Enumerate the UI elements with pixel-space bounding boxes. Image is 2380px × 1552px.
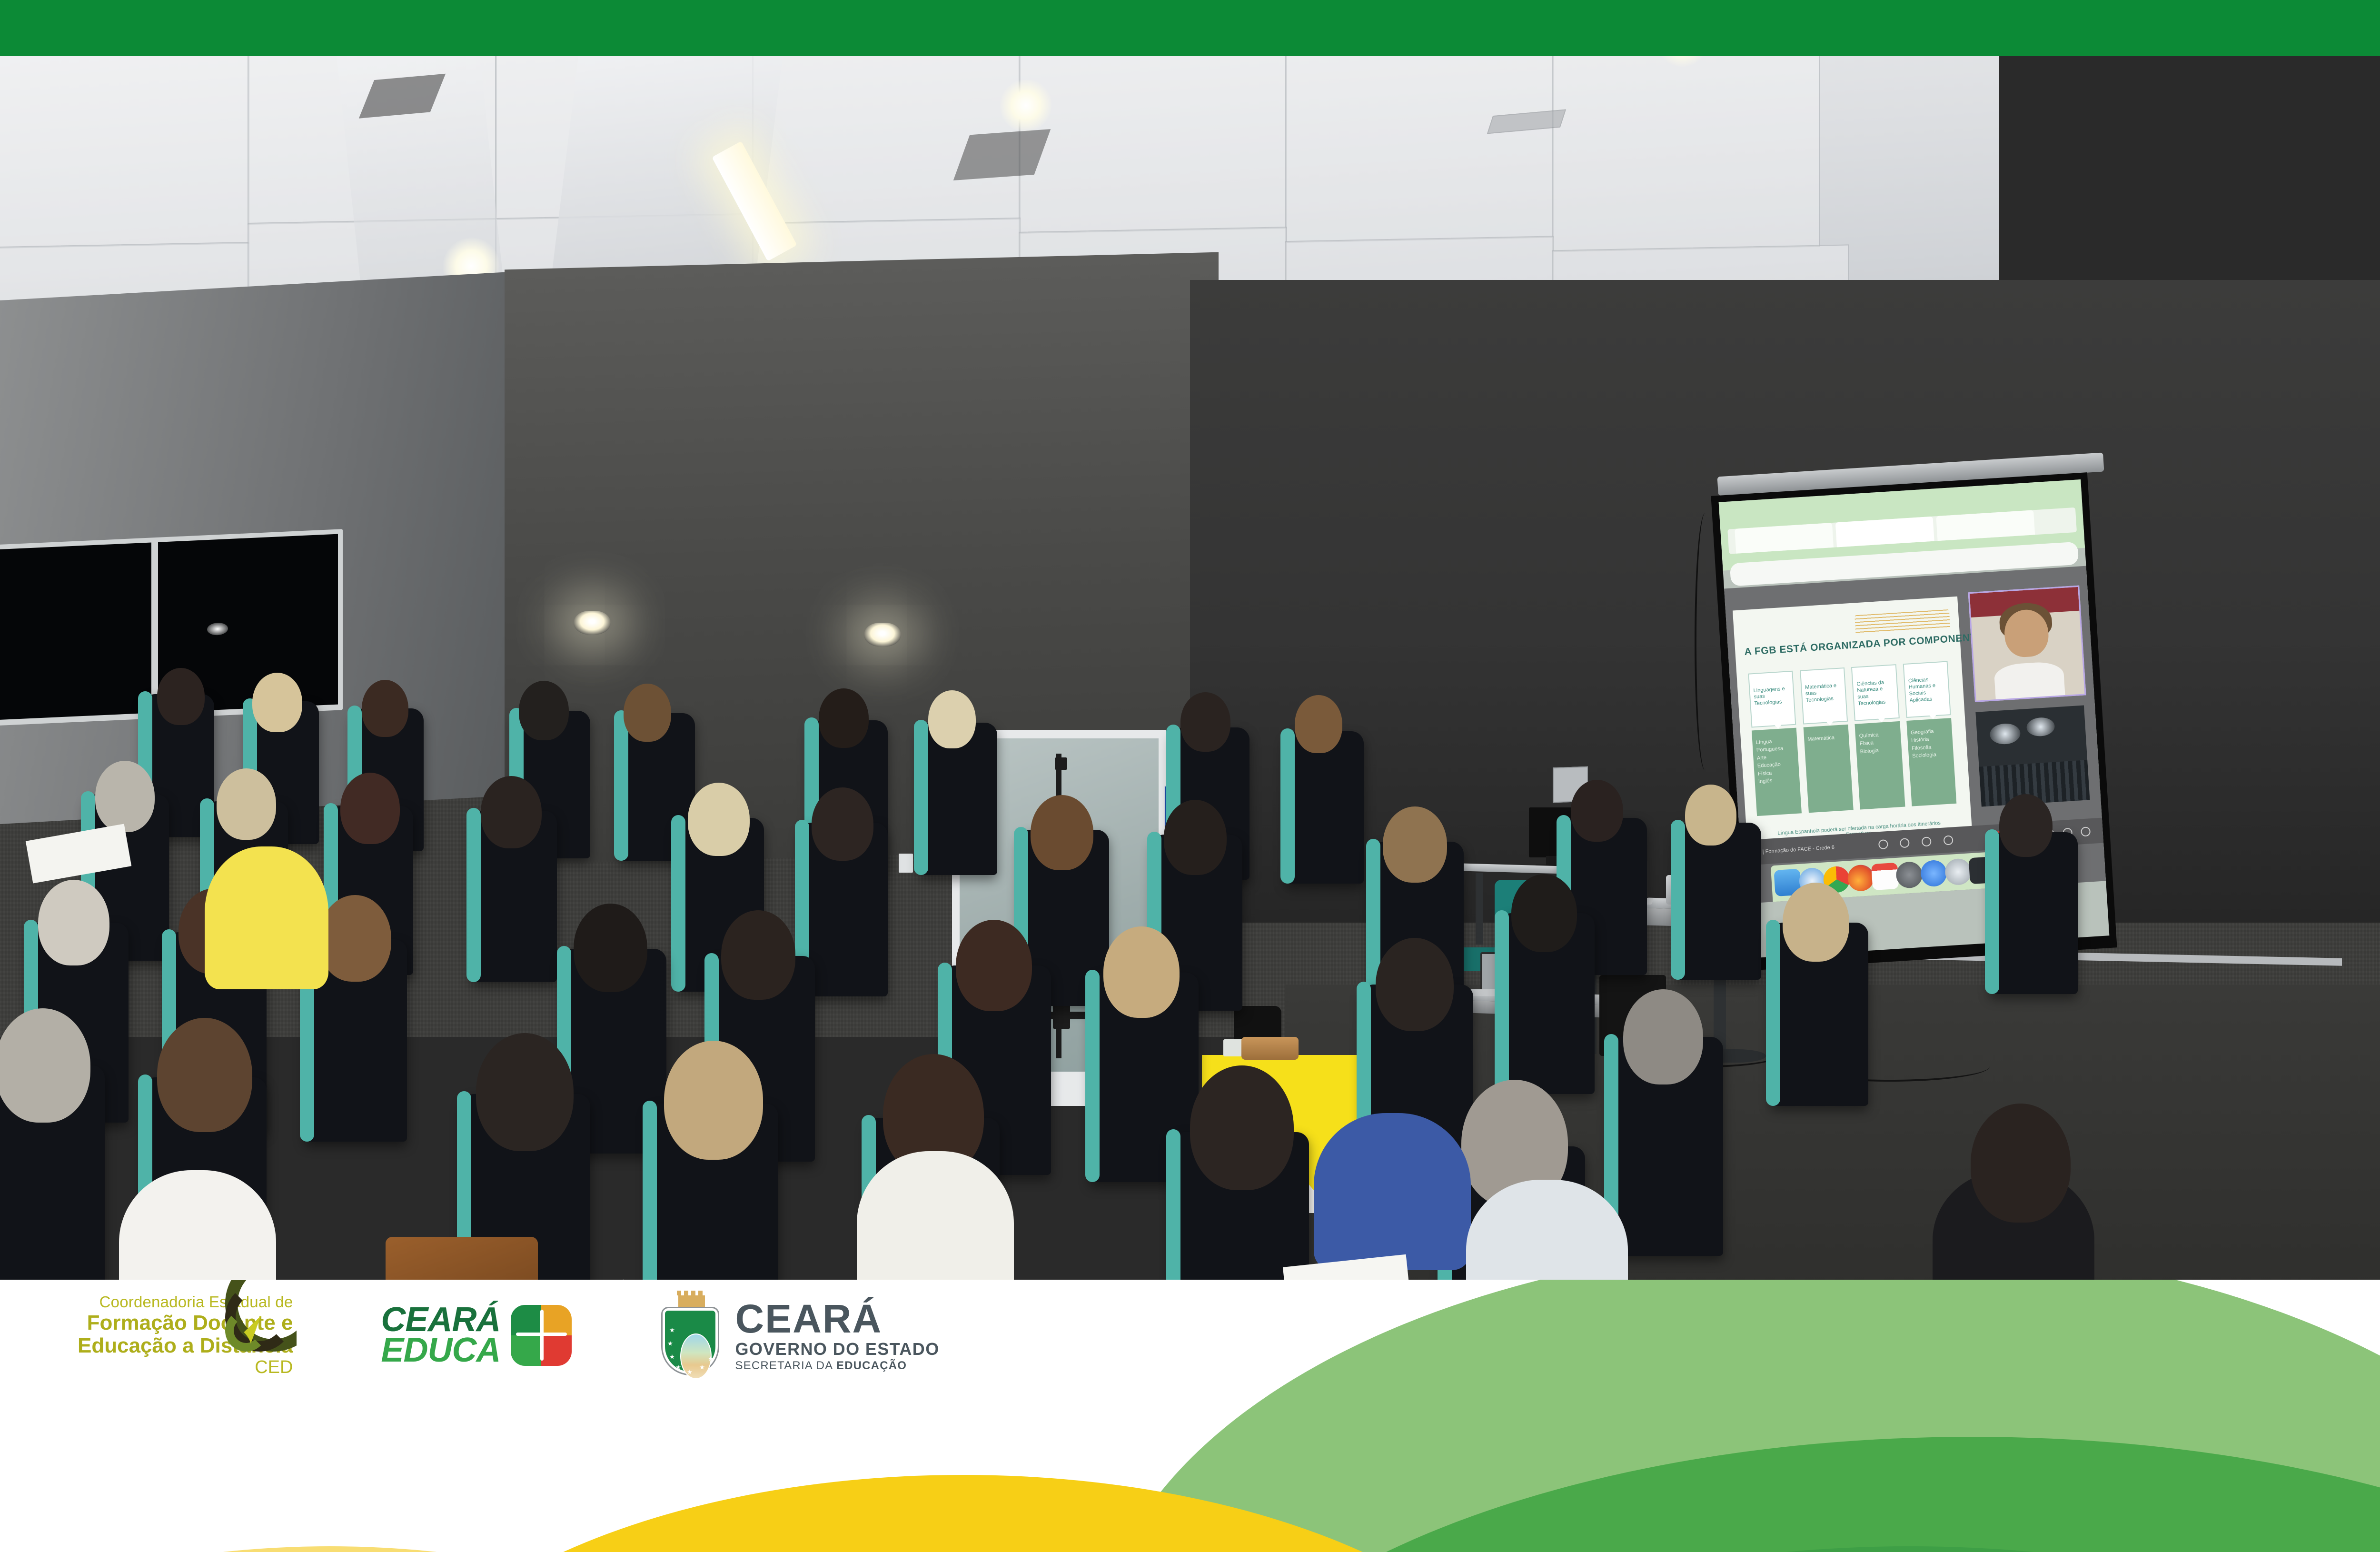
ceara-gov-line3: SECRETARIA DA EDUCAÇÃO bbox=[735, 1360, 939, 1372]
attendee-torso bbox=[857, 1151, 1014, 1280]
attendee bbox=[217, 768, 276, 840]
seat bbox=[1990, 832, 2078, 994]
attendee bbox=[1180, 692, 1230, 752]
wall-lamp bbox=[574, 611, 611, 635]
attendee bbox=[819, 688, 869, 748]
attendee bbox=[1376, 938, 1454, 1031]
attendee bbox=[1031, 795, 1093, 870]
shield-emblem bbox=[680, 1333, 712, 1379]
handbag bbox=[386, 1237, 538, 1280]
attendee-torso bbox=[205, 846, 328, 989]
auditorium-photo: A FGB ESTÁ ORGANIZADA POR COMPONENTES CU… bbox=[0, 56, 2380, 1280]
signal-arcs-icon bbox=[225, 1280, 297, 1352]
attendee bbox=[1103, 926, 1180, 1018]
attendee bbox=[476, 1033, 574, 1151]
ceara-gov-line2: GOVERNO DO ESTADO bbox=[735, 1341, 939, 1358]
attendee bbox=[1971, 1104, 2071, 1223]
wall-lamp bbox=[864, 623, 901, 647]
attendee bbox=[1623, 989, 1703, 1084]
seat bbox=[1285, 731, 1364, 884]
attendee bbox=[928, 690, 976, 748]
attendee bbox=[1783, 883, 1849, 962]
attendee bbox=[252, 673, 302, 732]
attendee bbox=[481, 776, 542, 848]
attendee bbox=[1999, 794, 2053, 857]
attendee bbox=[812, 787, 873, 861]
attendee bbox=[340, 773, 400, 844]
attendee bbox=[574, 904, 647, 992]
ced-logo: Coordenadoria Estadual de Formação Docen… bbox=[78, 1294, 293, 1376]
ceara-educa-line1: CEARÁ bbox=[381, 1305, 500, 1335]
attendee bbox=[1383, 806, 1447, 883]
ceara-educa-logo: CEARÁ EDUCA bbox=[381, 1305, 572, 1366]
attendee bbox=[1571, 780, 1623, 842]
audience bbox=[0, 675, 2237, 1280]
ceara-gov-line3-bold: EDUCAÇÃO bbox=[836, 1359, 907, 1372]
attendee bbox=[38, 880, 109, 965]
attendee bbox=[664, 1041, 763, 1160]
ceara-gov-line1: CEARÁ bbox=[735, 1299, 939, 1339]
attendee bbox=[319, 895, 391, 982]
ced-logo-line4: CED bbox=[78, 1358, 293, 1376]
attendee bbox=[519, 681, 569, 740]
ceara-educa-cross-icon bbox=[511, 1305, 572, 1366]
ceara-gov-line3-prefix: SECRETARIA DA bbox=[735, 1359, 836, 1372]
ceara-government-logo: CEARÁ GOVERNO DO ESTADO SECRETARIA DA ED… bbox=[660, 1295, 939, 1376]
ceara-educa-line2: EDUCA bbox=[381, 1335, 500, 1365]
attendee bbox=[362, 680, 408, 737]
top-green-bar bbox=[0, 0, 2380, 56]
seat bbox=[1676, 823, 1761, 980]
poster-page: A FGB ESTÁ ORGANIZADA POR COMPONENTES CU… bbox=[0, 0, 2380, 1552]
attendee bbox=[157, 1018, 252, 1132]
attendee bbox=[0, 1008, 90, 1123]
attendee bbox=[95, 761, 155, 832]
attendee bbox=[624, 684, 671, 742]
footer: Coordenadoria Estadual de Formação Docen… bbox=[6, 1280, 2380, 1552]
attendee bbox=[956, 920, 1032, 1011]
attendee bbox=[688, 783, 750, 856]
attendee bbox=[1511, 874, 1577, 952]
attendee bbox=[1190, 1065, 1294, 1190]
attendee-torso bbox=[1314, 1113, 1471, 1270]
attendee bbox=[1164, 800, 1227, 875]
ceara-coat-of-arms-icon bbox=[660, 1295, 721, 1376]
slide-wave-decoration bbox=[1854, 609, 1950, 635]
attendee bbox=[157, 668, 205, 725]
attendee bbox=[1295, 695, 1342, 753]
attendee bbox=[721, 910, 795, 1000]
attendee bbox=[1685, 785, 1736, 846]
